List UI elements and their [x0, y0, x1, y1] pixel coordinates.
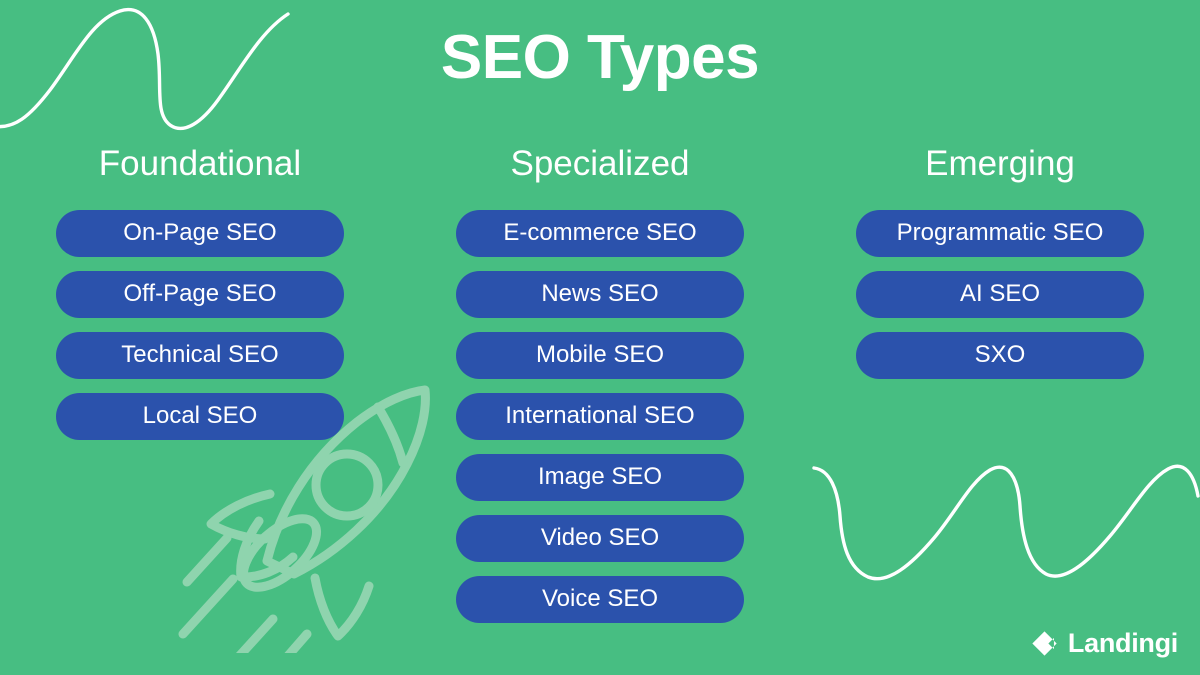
seo-type-pill[interactable]: Voice SEO [456, 576, 744, 623]
pill-list-emerging: Programmatic SEO AI SEO SXO [800, 210, 1200, 379]
seo-category-columns: Foundational On-Page SEO Off-Page SEO Te… [0, 146, 1200, 623]
seo-type-pill[interactable]: Programmatic SEO [856, 210, 1144, 257]
seo-type-pill[interactable]: International SEO [456, 393, 744, 440]
category-column-specialized: Specialized E-commerce SEO News SEO Mobi… [400, 146, 800, 623]
seo-types-infographic: SEO Types Foundational On-Page SEO Off-P… [0, 0, 1200, 675]
seo-type-pill[interactable]: News SEO [456, 271, 744, 318]
seo-type-pill[interactable]: Off-Page SEO [56, 271, 344, 318]
brand-logo: Landingi [1031, 630, 1178, 657]
seo-type-pill[interactable]: Technical SEO [56, 332, 344, 379]
seo-type-pill[interactable]: E-commerce SEO [456, 210, 744, 257]
seo-type-pill[interactable]: Image SEO [456, 454, 744, 501]
seo-type-pill[interactable]: SXO [856, 332, 1144, 379]
column-heading-foundational: Foundational [99, 146, 301, 183]
column-heading-specialized: Specialized [511, 146, 690, 183]
seo-type-pill[interactable]: Local SEO [56, 393, 344, 440]
pill-list-foundational: On-Page SEO Off-Page SEO Technical SEO L… [0, 210, 400, 440]
category-column-emerging: Emerging Programmatic SEO AI SEO SXO [800, 146, 1200, 379]
landingi-diamond-icon [1031, 630, 1058, 657]
column-heading-emerging: Emerging [925, 146, 1075, 183]
page-title: SEO Types [0, 24, 1200, 92]
seo-type-pill[interactable]: Video SEO [456, 515, 744, 562]
seo-type-pill[interactable]: Mobile SEO [456, 332, 744, 379]
brand-logo-text: Landingi [1068, 630, 1178, 657]
pill-list-specialized: E-commerce SEO News SEO Mobile SEO Inter… [400, 210, 800, 623]
seo-type-pill[interactable]: AI SEO [856, 271, 1144, 318]
category-column-foundational: Foundational On-Page SEO Off-Page SEO Te… [0, 146, 400, 440]
seo-type-pill[interactable]: On-Page SEO [56, 210, 344, 257]
